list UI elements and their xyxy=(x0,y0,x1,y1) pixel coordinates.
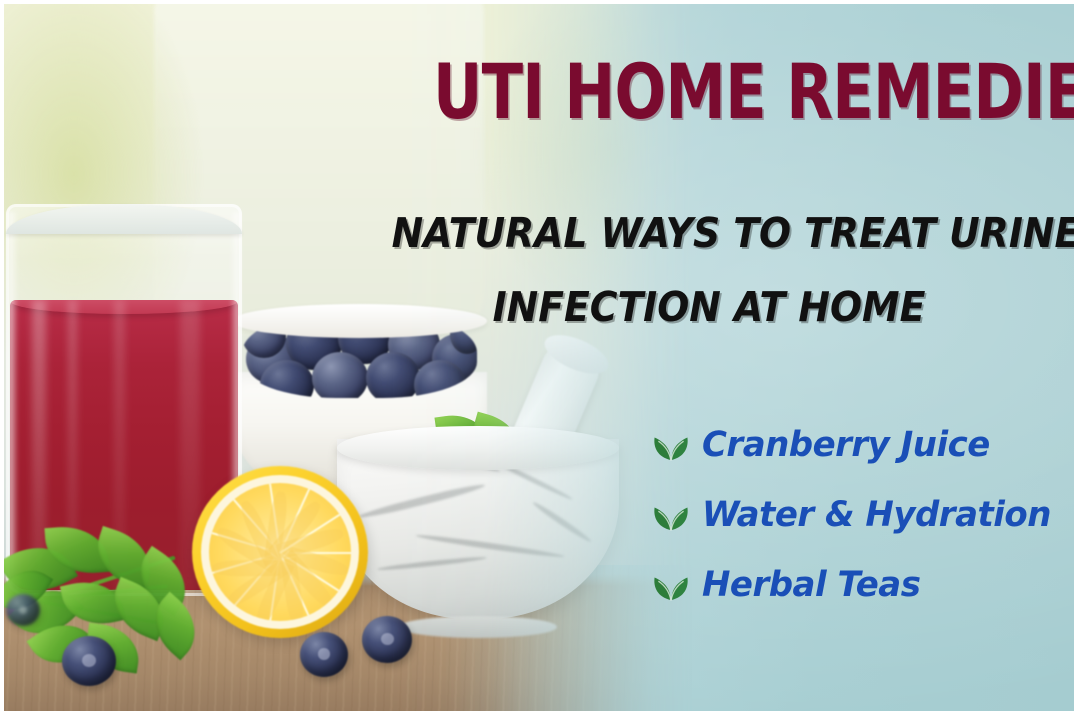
remedy-list: Cranberry Juice Water & Hydration xyxy=(652,410,1072,620)
leaf-icon xyxy=(652,497,690,533)
loose-blueberry xyxy=(6,594,40,626)
list-item: Water & Hydration xyxy=(652,480,1072,550)
marble-vein xyxy=(358,481,486,520)
poster-canvas: UTI HOME REMEDIES NATURAL WAYS TO TREAT … xyxy=(4,4,1074,711)
leaf-icon xyxy=(652,567,690,603)
page-title: UTI HOME REMEDIES xyxy=(433,52,985,132)
mortar-and-pestle xyxy=(337,334,619,634)
marble-vein xyxy=(377,555,487,571)
list-item-label: Herbal Teas xyxy=(702,565,920,605)
list-item-label: Water & Hydration xyxy=(702,495,1051,535)
mortar-foot xyxy=(399,616,557,638)
list-item: Cranberry Juice xyxy=(652,410,1072,480)
parsley-sprig xyxy=(4,514,248,684)
subtitle-line-2: INFECTION AT HOME xyxy=(392,270,1027,344)
loose-blueberry xyxy=(62,636,116,686)
marble-vein xyxy=(415,533,564,560)
loose-blueberry xyxy=(300,632,348,677)
list-item-label: Cranberry Juice xyxy=(702,425,990,465)
page-subtitle: NATURAL WAYS TO TREAT URINE INFECTION AT… xyxy=(392,196,1027,344)
subtitle-line-1: NATURAL WAYS TO TREAT URINE xyxy=(392,196,1027,270)
poster-root: UTI HOME REMEDIES NATURAL WAYS TO TREAT … xyxy=(0,0,1080,719)
mortar-rim xyxy=(337,426,619,470)
loose-blueberry xyxy=(362,616,412,663)
marble-vein xyxy=(531,500,592,544)
leaf-icon xyxy=(652,427,690,463)
list-item: Herbal Teas xyxy=(652,550,1072,620)
